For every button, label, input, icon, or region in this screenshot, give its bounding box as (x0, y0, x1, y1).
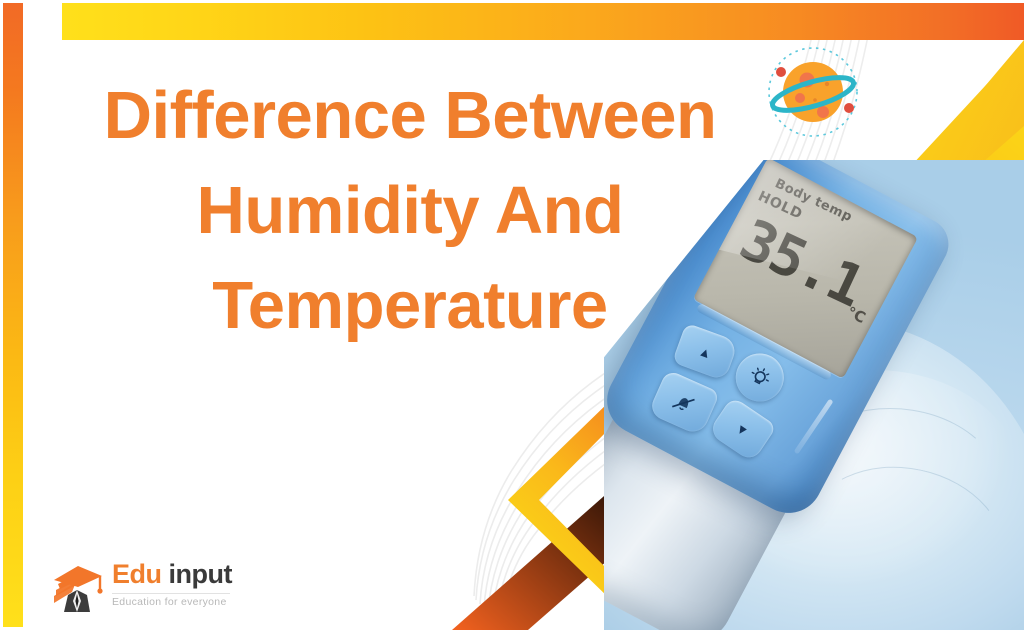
brand-logo-text: Edu input Education for everyone (112, 561, 232, 612)
title-line-3: Temperature (40, 258, 780, 353)
brand-word-input: input (169, 559, 232, 589)
saturn-planet-icon (757, 42, 869, 146)
muted-bell-icon (669, 388, 700, 418)
down-arrow-icon: ▼ (733, 420, 752, 440)
title-line-2: Humidity And (40, 163, 780, 258)
brand-logo[interactable]: Edu input Education for everyone (48, 556, 232, 612)
title-line-1: Difference Between (40, 68, 780, 163)
left-gradient-bar (3, 3, 23, 627)
poster-title: Difference Between Humidity And Temperat… (40, 68, 780, 353)
light-bulb-icon (745, 363, 775, 393)
planet-moon (776, 67, 786, 77)
brand-word-edu: Edu (112, 559, 162, 589)
brand-tagline: Education for everyone (112, 593, 230, 608)
down-arrow-button[interactable]: ▼ (708, 396, 777, 463)
poster-canvas: Body temp HOLD 35.1 °C ▲ (0, 0, 1024, 630)
planet-body (783, 62, 843, 122)
graduation-cap-logo-icon (48, 556, 106, 612)
top-gradient-bar (62, 3, 1024, 40)
planet-moon (844, 103, 854, 113)
mute-bell-button[interactable] (648, 369, 721, 436)
